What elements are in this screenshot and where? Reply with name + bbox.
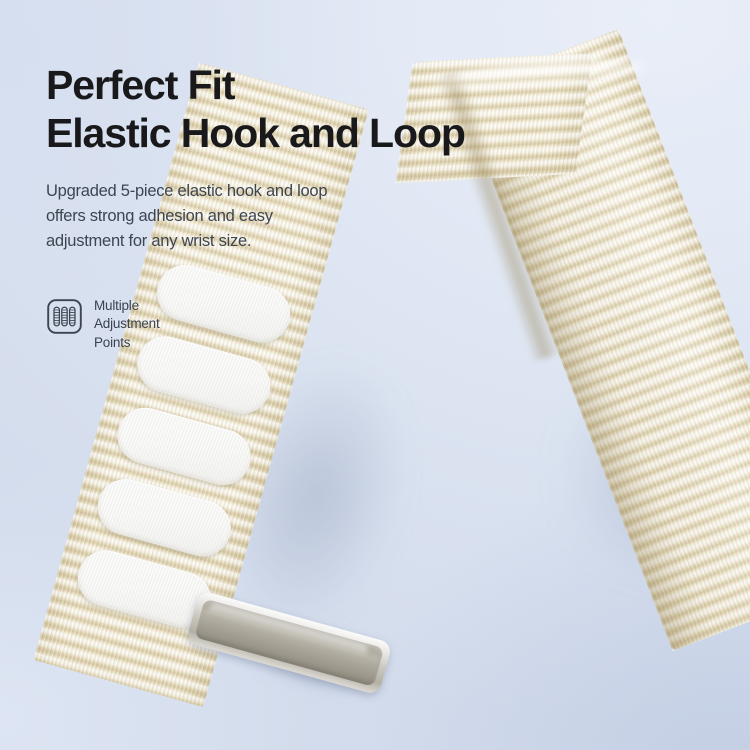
body-copy: Upgraded 5-piece elastic hook and loop o… xyxy=(46,179,376,254)
feature-label-line-1: Multiple xyxy=(94,297,160,315)
marketing-copy: Perfect Fit Elastic Hook and Loop Upgrad… xyxy=(46,62,516,254)
product-feature-banner: Perfect Fit Elastic Hook and Loop Upgrad… xyxy=(0,0,750,750)
feature-label-line-3: Points xyxy=(94,334,160,352)
page-title: Perfect Fit Elastic Hook and Loop xyxy=(46,62,516,157)
body-copy-line-3: adjustment for any wrist size. xyxy=(46,229,376,254)
hook-and-loop-patch xyxy=(151,259,297,349)
multiple-adjustment-points-icon xyxy=(46,298,83,335)
headline-line-1: Perfect Fit xyxy=(46,62,234,108)
body-copy-line-2: offers strong adhesion and easy xyxy=(46,204,376,229)
hook-and-loop-patch xyxy=(111,401,257,491)
feature-badge: Multiple Adjustment Points xyxy=(46,296,160,352)
headline-line-2: Elastic Hook and Loop xyxy=(46,110,516,158)
feature-badge-label: Multiple Adjustment Points xyxy=(94,296,160,352)
feature-label-line-2: Adjustment xyxy=(94,315,160,333)
hook-and-loop-patch xyxy=(91,473,237,563)
body-copy-line-1: Upgraded 5-piece elastic hook and loop xyxy=(46,179,376,204)
